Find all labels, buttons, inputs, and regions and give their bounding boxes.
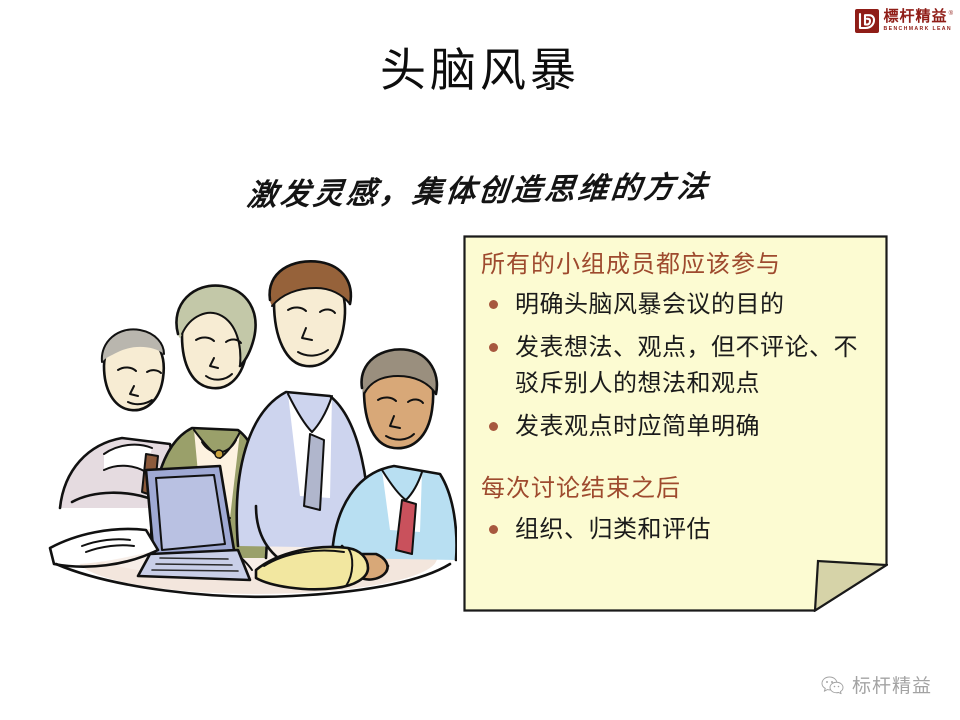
bullet-icon (489, 300, 498, 309)
bullet-icon (489, 343, 498, 352)
note-content: 所有的小组成员都应该参与 明确头脑风暴会议的目的 发表想法、观点，但不评论、不驳… (463, 235, 888, 612)
slide-subtitle: 激发灵感，集体创造思维的方法 (245, 162, 713, 215)
note-item-text: 发表想法、观点，但不评论、不驳斥别人的想法和观点 (515, 335, 858, 397)
wechat-watermark: 标杆精益 (821, 671, 932, 698)
benchmark-lean-mark-icon (855, 9, 879, 33)
note-list-item: 发表想法、观点，但不评论、不驳斥别人的想法和观点 (479, 330, 870, 403)
note-list-1: 明确头脑风暴会议的目的 发表想法、观点，但不评论、不驳斥别人的想法和观点 发表观… (479, 287, 870, 445)
wechat-label: 标杆精益 (852, 671, 932, 698)
wechat-icon (821, 675, 844, 695)
brand-logo: 標杆精益 BENCHMARK LEAN ® (855, 7, 952, 35)
note-list-item: 明确头脑风暴会议的目的 (479, 287, 870, 323)
bullet-icon (489, 422, 498, 431)
page-title: 头脑风暴 (0, 34, 960, 100)
note-item-text: 明确头脑风暴会议的目的 (515, 292, 785, 318)
bullet-icon (489, 525, 498, 534)
brand-english-name: BENCHMARK LEAN (884, 27, 952, 32)
note-item-text: 发表观点时应简单明确 (515, 414, 760, 440)
brand-text: 標杆精益 BENCHMARK LEAN ® (884, 10, 952, 32)
team-meeting-illustration: .ln { fill:none; stroke:#111; stroke-wid… (42, 258, 457, 608)
note-section-heading-2: 每次讨论结束之后 (481, 473, 870, 505)
note-section-divider (479, 451, 870, 473)
slide-canvas: 標杆精益 BENCHMARK LEAN ® 头脑风暴 激发灵感，集体创造思维的方… (0, 0, 960, 720)
content-note-card: 所有的小组成员都应该参与 明确头脑风暴会议的目的 发表想法、观点，但不评论、不驳… (463, 235, 888, 612)
brand-chinese-name: 標杆精益 (884, 10, 952, 25)
note-item-text: 组织、归类和评估 (515, 517, 711, 543)
note-list-2: 组织、归类和评估 (479, 512, 870, 548)
note-list-item: 发表观点时应简单明确 (479, 409, 870, 445)
registered-trademark-icon: ® (949, 11, 953, 17)
note-section-heading-1: 所有的小组成员都应该参与 (481, 249, 870, 281)
team-meeting-clipart-icon: .ln { fill:none; stroke:#111; stroke-wid… (42, 258, 457, 608)
logo-swoosh-icon (858, 12, 876, 30)
note-list-item: 组织、归类和评估 (479, 512, 870, 548)
